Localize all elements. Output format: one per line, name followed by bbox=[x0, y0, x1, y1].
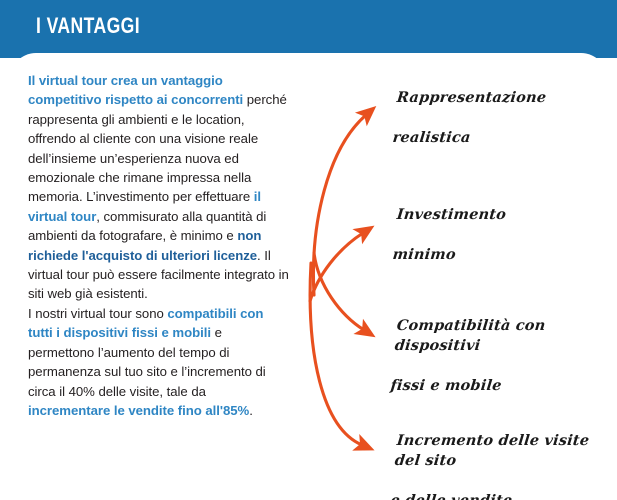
body-highlight-competitive: Il virtual tour crea un vantaggio compet… bbox=[28, 73, 243, 107]
benefit-label-3-line1: Compatibilità con dispositivi bbox=[394, 317, 546, 354]
curved-arrow-icon-2 bbox=[310, 233, 363, 301]
body-copy: Il virtual tour crea un vantaggio compet… bbox=[28, 71, 290, 420]
page-title: I VANTAGGI bbox=[36, 13, 140, 39]
benefit-label-1: Rappresentazione realistica bbox=[392, 68, 610, 148]
benefit-label-4-line2: e delle vendite bbox=[390, 492, 513, 500]
curved-arrow-icon-1 bbox=[313, 115, 366, 295]
benefit-label-1-line2: realistica bbox=[392, 129, 472, 146]
content-panel: Il virtual tour crea un vantaggio compet… bbox=[10, 53, 607, 500]
body-plain-6: . bbox=[249, 403, 253, 418]
benefit-label-4: Incremento delle visite del sito e delle… bbox=[389, 411, 612, 500]
benefit-label-1-line1: Rappresentazione bbox=[396, 89, 547, 106]
header-band: I VANTAGGI bbox=[0, 0, 617, 58]
benefit-label-3-line2: fissi e mobile bbox=[390, 377, 503, 394]
body-plain-1: perché rappresenta gli ambienti e le loc… bbox=[28, 92, 287, 204]
body-plain-4: I nostri virtual tour sono bbox=[28, 306, 167, 321]
curved-arrow-icon-4 bbox=[310, 263, 362, 445]
curved-arrow-icon-3 bbox=[314, 253, 364, 330]
benefit-label-3: Compatibilità con dispositivi fissi e mo… bbox=[389, 296, 612, 396]
benefit-label-2-line1: Investimento bbox=[396, 206, 507, 223]
body-highlight-vendite: incrementare le vendite fino all'85% bbox=[28, 403, 249, 418]
benefit-label-2: Investimento minimo bbox=[392, 185, 610, 265]
benefit-label-4-line1: Incremento delle visite del sito bbox=[394, 432, 590, 469]
benefit-label-2-line2: minimo bbox=[392, 246, 457, 263]
slide-canvas: I VANTAGGI Il virtual tour crea un vanta… bbox=[0, 0, 617, 500]
